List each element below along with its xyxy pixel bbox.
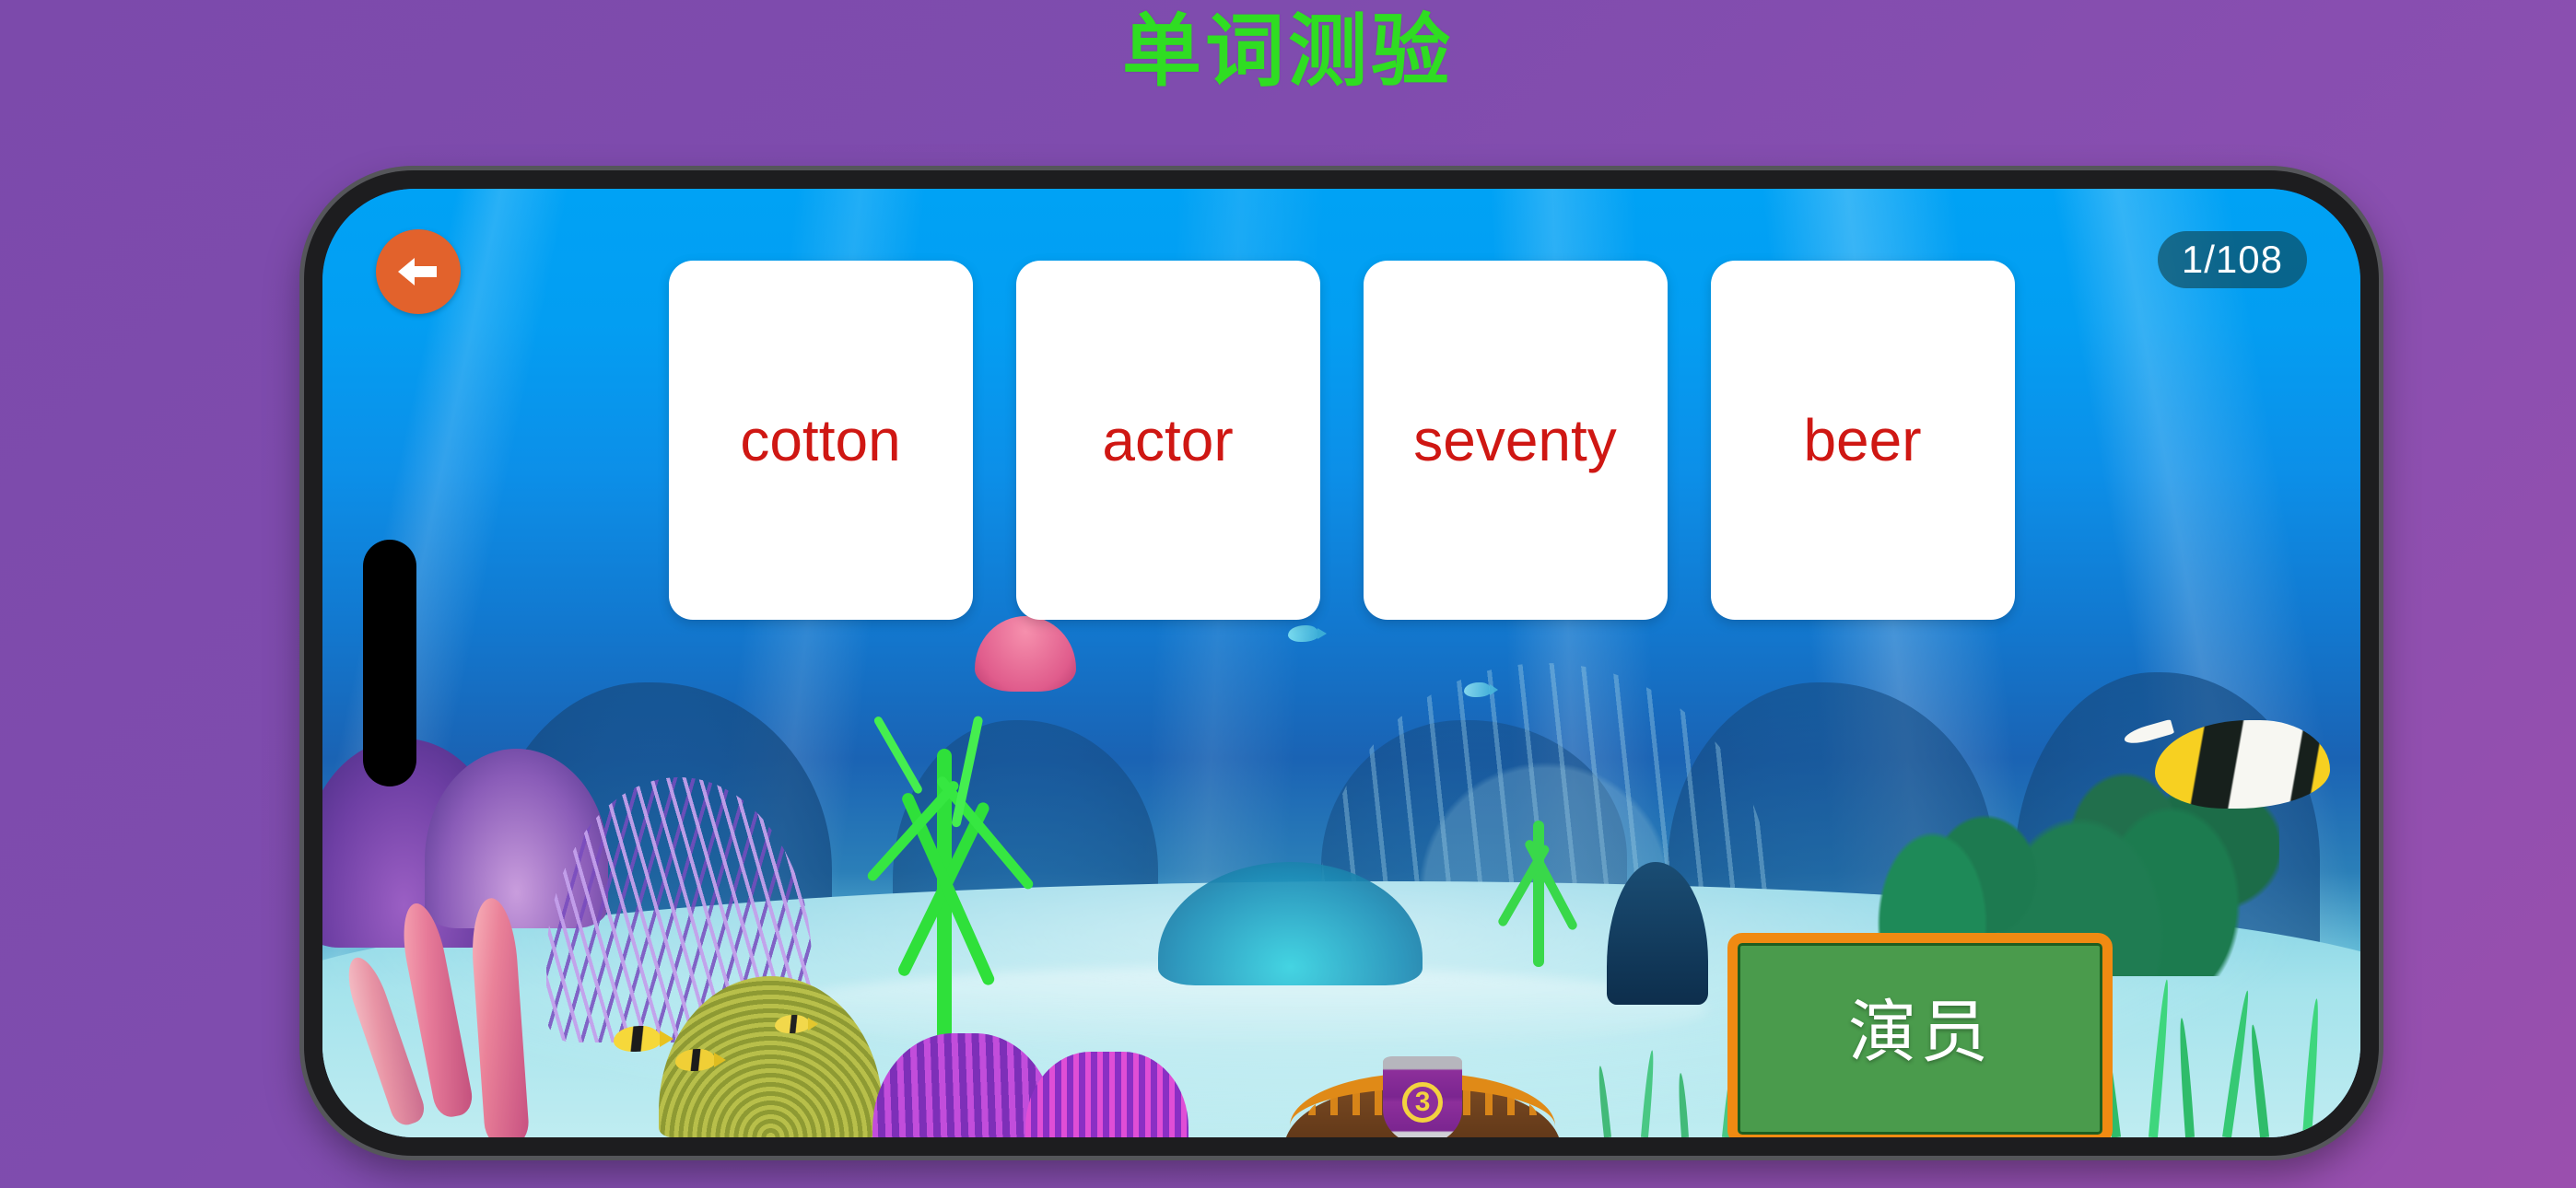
seagrass-patch <box>2095 976 2360 1137</box>
phone-device-frame: 3 1/108 cotton actor seventy <box>304 170 2379 1156</box>
progress-badge: 1/108 <box>2158 231 2307 288</box>
word-card-2[interactable]: actor <box>1016 261 1320 620</box>
word-card-3[interactable]: seventy <box>1364 261 1668 620</box>
small-fish <box>614 1026 662 1052</box>
small-fish <box>775 1015 810 1033</box>
back-button[interactable] <box>376 229 461 314</box>
answer-prompt-button[interactable]: 演员 <box>1727 933 2113 1137</box>
green-branch-coral <box>791 644 1138 1080</box>
chest-badge-number: 3 <box>1402 1082 1443 1123</box>
treasure-chest: 3 <box>1383 1056 1462 1137</box>
phone-screen: 3 1/108 cotton actor seventy <box>322 189 2360 1137</box>
angelfish <box>2155 720 2330 809</box>
arrow-left-icon <box>394 248 442 296</box>
word-card-text: cotton <box>740 411 900 470</box>
sunken-boat: 3 <box>1284 1038 1561 1137</box>
small-fish <box>1464 682 1492 697</box>
word-card-1[interactable]: cotton <box>669 261 973 620</box>
kelp-bush <box>1851 720 2055 958</box>
page-title: 单词测验 <box>0 6 2576 98</box>
word-card-row: cotton actor seventy beer <box>322 261 2360 620</box>
small-fish <box>675 1049 716 1071</box>
word-card-text: actor <box>1102 411 1233 470</box>
small-fish <box>1288 625 1319 642</box>
word-card-text: beer <box>1803 411 1921 470</box>
word-card-4[interactable]: beer <box>1711 261 2015 620</box>
word-card-text: seventy <box>1413 411 1617 470</box>
answer-prompt-label: 演员 <box>1848 998 1992 1066</box>
